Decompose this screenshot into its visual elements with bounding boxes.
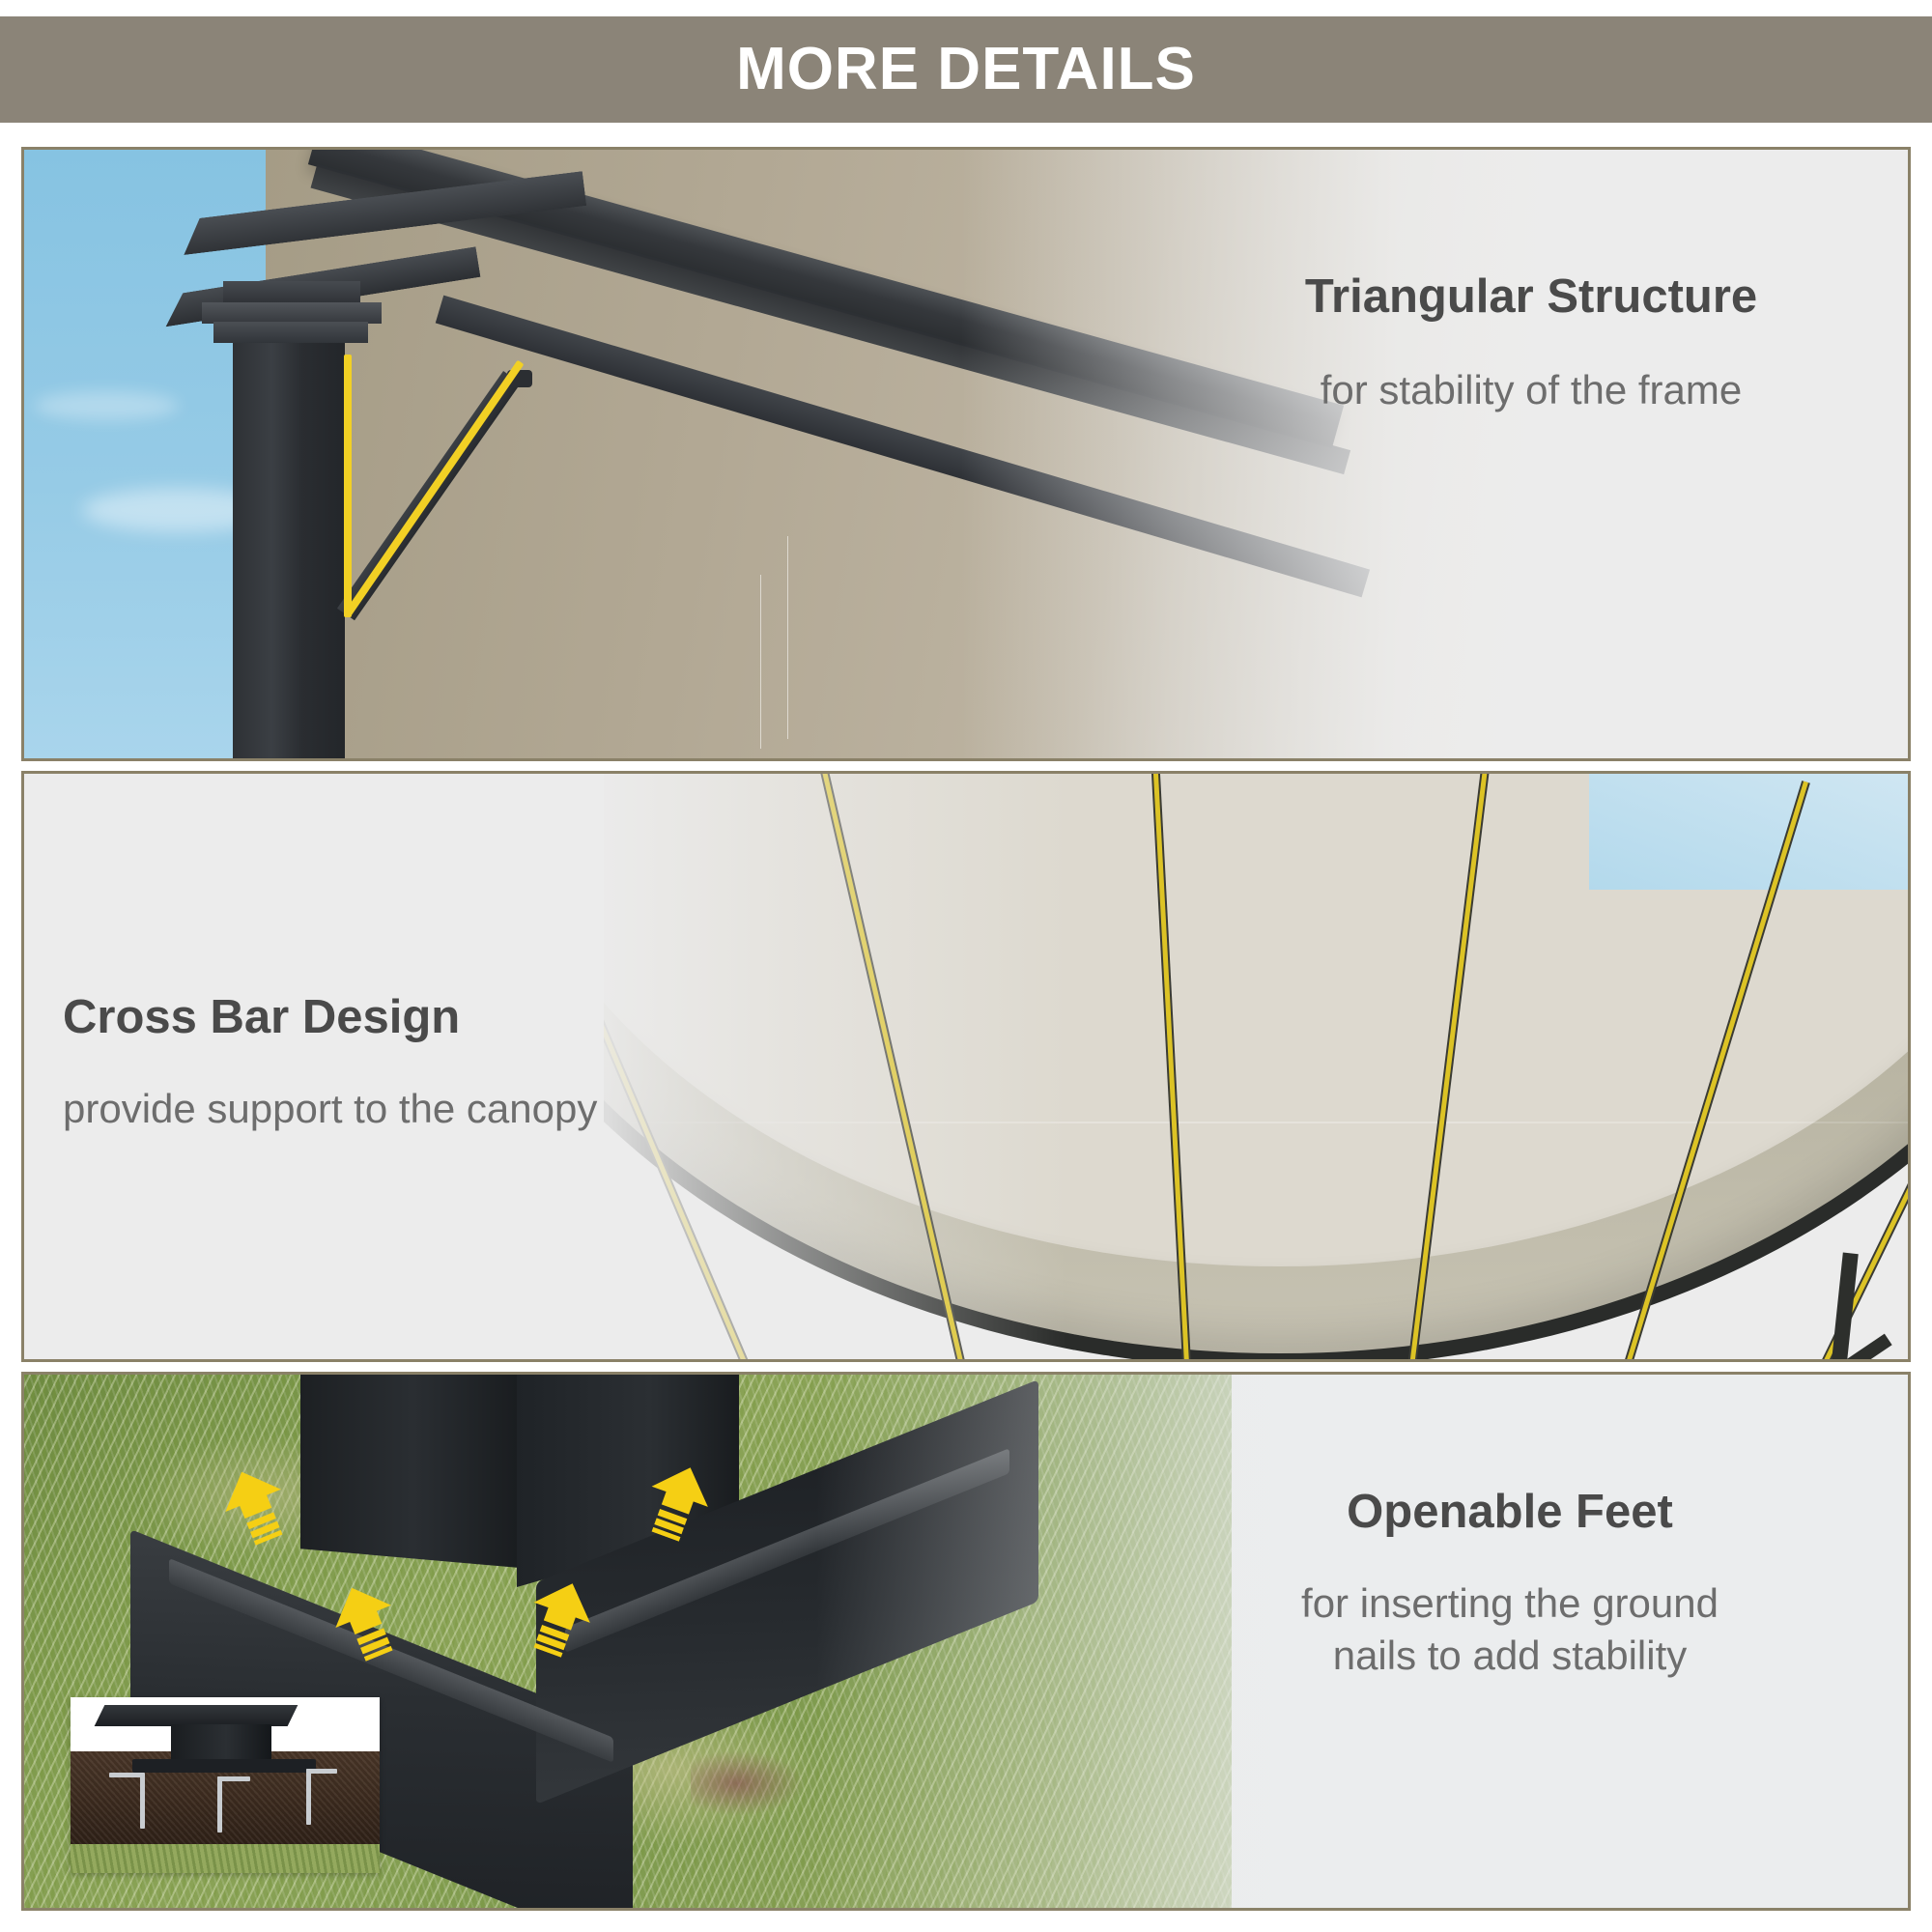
ground-nail-hook: [109, 1773, 142, 1777]
panel-1-heading: Triangular Structure: [1193, 270, 1869, 324]
ground-nail-hook: [217, 1776, 250, 1781]
panel-3-heading: Openable Feet: [1172, 1486, 1848, 1539]
panel-3-text-block: Openable Feet for inserting the ground n…: [1172, 1486, 1848, 1683]
foot-plate: [132, 1759, 316, 1773]
post-cap-bottom: [213, 322, 368, 343]
post-cap-middle: [202, 302, 382, 324]
product-detail-infographic: MORE DETAILS Triangula: [0, 0, 1932, 1932]
panel-2-text-block: Cross Bar Design provide support to the …: [63, 991, 836, 1135]
panel-2-heading: Cross Bar Design: [63, 991, 836, 1044]
highlight-line-vertical: [344, 355, 352, 617]
header-banner: MORE DETAILS: [0, 16, 1932, 123]
panel-2-subtext: provide support to the canopy: [63, 1083, 836, 1136]
panel-1-text-block: Triangular Structure for stability of th…: [1193, 270, 1869, 416]
ground-nail: [306, 1769, 311, 1825]
photo-fade-overlay: [961, 150, 1908, 758]
ground-nail: [217, 1776, 222, 1833]
inset-ground-nails-photo: [71, 1697, 380, 1873]
ground-nail-hook: [306, 1769, 337, 1774]
page-title: MORE DETAILS: [736, 40, 1196, 99]
guy-string: [787, 536, 788, 739]
post-cap-top: [223, 281, 360, 304]
post-flange: [95, 1705, 298, 1726]
support-post: [233, 343, 345, 758]
sky-patch: [1589, 774, 1908, 890]
panel-3-subtext-line-2: nails to add stability: [1172, 1630, 1848, 1683]
panel-1-photo: [24, 150, 1908, 758]
guy-string: [760, 575, 761, 749]
panel-1-subtext: for stability of the frame: [1193, 364, 1869, 417]
cloud-shape: [34, 391, 179, 420]
grass-strip: [71, 1844, 380, 1873]
feature-panel-cross-bar-design: Cross Bar Design provide support to the …: [21, 771, 1911, 1362]
ground-nail: [140, 1773, 145, 1829]
feature-panel-triangular-structure: Triangular Structure for stability of th…: [21, 147, 1911, 761]
feature-panel-openable-feet: Openable Feet for inserting the ground n…: [21, 1372, 1911, 1911]
panel-3-subtext-line-1: for inserting the ground: [1172, 1577, 1848, 1631]
